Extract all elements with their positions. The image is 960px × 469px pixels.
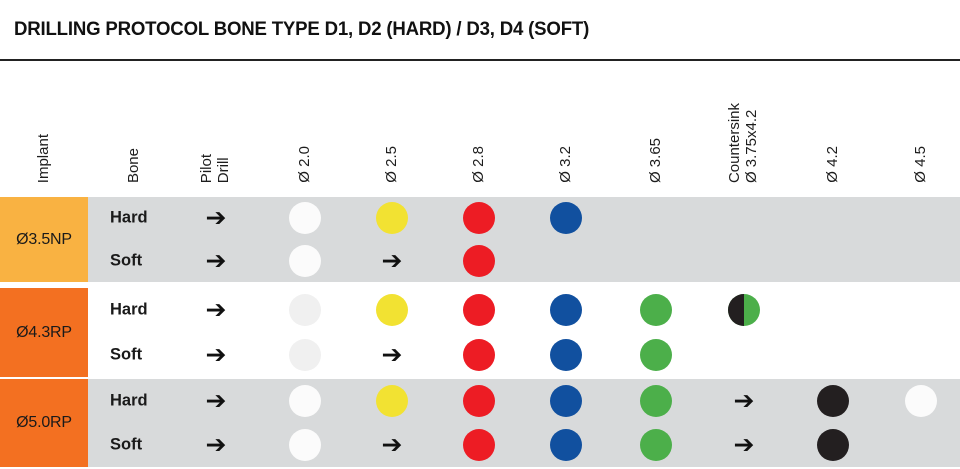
- red-dot: [463, 294, 495, 326]
- arrow-icon: ➔: [382, 432, 403, 458]
- arrow-glyph: ➔: [734, 386, 755, 415]
- column-header-label: Ø 2.5: [384, 146, 401, 183]
- column-header-label: Ø 4.5: [913, 146, 930, 183]
- drill-step-dot: [905, 385, 937, 417]
- drilling-protocol-page: DRILLING PROTOCOL BONE TYPE D1, D2 (HARD…: [0, 0, 960, 469]
- blue-dot: [550, 385, 582, 417]
- drill-step-dot: [550, 429, 582, 461]
- yellow-dot: [376, 385, 408, 417]
- drill-step-dot: [550, 202, 582, 234]
- implant-label: Ø3.5NP: [16, 231, 72, 249]
- column-header-bone: Bone: [94, 63, 174, 183]
- red-dot: [463, 339, 495, 371]
- drill-step-dot: [550, 339, 582, 371]
- white-dot: [905, 385, 937, 417]
- red-dot: [463, 245, 495, 277]
- drill-step-dot: [289, 294, 321, 326]
- column-header-d45: Ø 4.5: [881, 63, 960, 183]
- bone-type-label: Soft: [110, 345, 142, 364]
- column-header-d32: Ø 3.2: [526, 63, 606, 183]
- arrow-icon: ➔: [734, 432, 755, 458]
- arrow-glyph: ➔: [734, 430, 755, 459]
- arrow-glyph: ➔: [206, 295, 227, 324]
- column-header-label: Ø 3.65: [648, 138, 665, 183]
- white-dot: [289, 385, 321, 417]
- column-header-d25: Ø 2.5: [352, 63, 432, 183]
- half-black-half-green-dot: [728, 294, 760, 326]
- green-dot: [640, 385, 672, 417]
- arrow-icon: ➔: [206, 342, 227, 368]
- black-dot: [817, 385, 849, 417]
- arrow-icon: ➔: [206, 432, 227, 458]
- drill-step-dot: [550, 385, 582, 417]
- blue-dot: [550, 294, 582, 326]
- column-header-d20: Ø 2.0: [265, 63, 345, 183]
- drill-step-dot: [289, 245, 321, 277]
- red-dot: [463, 202, 495, 234]
- implant-label-cell: Ø3.5NP: [0, 197, 88, 282]
- blue-dot: [550, 339, 582, 371]
- column-header-d28: Ø 2.8: [439, 63, 519, 183]
- arrow-icon: ➔: [382, 342, 403, 368]
- arrow-icon: ➔: [734, 388, 755, 414]
- table-header-row: ImplantBonePilot DrillØ 2.0Ø 2.5Ø 2.8Ø 3…: [0, 61, 960, 197]
- column-header-label: Ø 3.2: [558, 146, 575, 183]
- column-header-d42: Ø 4.2: [793, 63, 873, 183]
- drill-step-dot: [289, 385, 321, 417]
- green-dot: [640, 339, 672, 371]
- drill-step-dot: [640, 294, 672, 326]
- table-row: Soft➔➔: [88, 333, 960, 378]
- drill-step-dot: [728, 294, 760, 326]
- column-header-implant: Implant: [4, 63, 84, 183]
- red-dot: [463, 385, 495, 417]
- bone-type-label: Soft: [110, 251, 142, 270]
- drill-step-dot: [463, 429, 495, 461]
- white-dot: [289, 202, 321, 234]
- page-title-text: DRILLING PROTOCOL BONE TYPE D1, D2 (HARD…: [14, 18, 589, 41]
- implant-group-row: Ø4.3RPHard➔Soft➔➔: [0, 288, 960, 377]
- arrow-icon: ➔: [206, 388, 227, 414]
- arrow-glyph: ➔: [206, 246, 227, 275]
- black-dot: [817, 429, 849, 461]
- drill-step-dot: [640, 429, 672, 461]
- bone-type-label: Hard: [110, 392, 148, 411]
- drill-step-dot: [817, 429, 849, 461]
- arrow-icon: ➔: [382, 248, 403, 274]
- white-dot: [289, 429, 321, 461]
- column-header-label: Countersink Ø 3.75x4.2: [727, 103, 761, 183]
- column-header-d365: Ø 3.65: [616, 63, 696, 183]
- blue-dot: [550, 429, 582, 461]
- blue-dot: [550, 202, 582, 234]
- table-row: Soft➔➔➔: [88, 423, 960, 467]
- arrow-glyph: ➔: [206, 203, 227, 232]
- drill-step-dot: [463, 202, 495, 234]
- white-dot: [289, 245, 321, 277]
- arrow-glyph: ➔: [382, 246, 403, 275]
- column-header-label: Implant: [36, 134, 53, 183]
- drill-step-dot: [640, 385, 672, 417]
- arrow-glyph: ➔: [206, 340, 227, 369]
- drill-step-dot: [463, 245, 495, 277]
- implant-group-row: Ø3.5NPHard➔Soft➔➔: [0, 197, 960, 282]
- white-on-plain-dot: [289, 339, 321, 371]
- drill-step-dot: [376, 294, 408, 326]
- arrow-icon: ➔: [206, 248, 227, 274]
- green-dot: [640, 429, 672, 461]
- implant-label: Ø5.0RP: [16, 414, 72, 432]
- drill-step-dot: [640, 339, 672, 371]
- implant-label-cell: Ø4.3RP: [0, 288, 88, 377]
- implant-group-row: Ø5.0RPHard➔➔Soft➔➔➔: [0, 379, 960, 467]
- column-header-label: Ø 2.8: [471, 146, 488, 183]
- arrow-glyph: ➔: [382, 430, 403, 459]
- bone-type-label: Hard: [110, 209, 148, 228]
- drill-step-dot: [817, 385, 849, 417]
- yellow-dot: [376, 294, 408, 326]
- implant-label: Ø4.3RP: [16, 324, 72, 342]
- arrow-glyph: ➔: [206, 386, 227, 415]
- red-dot: [463, 429, 495, 461]
- drill-step-dot: [289, 429, 321, 461]
- arrow-icon: ➔: [206, 205, 227, 231]
- drill-step-dot: [289, 202, 321, 234]
- implant-label-cell: Ø5.0RP: [0, 379, 88, 467]
- bone-type-label: Hard: [110, 301, 148, 320]
- drill-step-dot: [376, 385, 408, 417]
- arrow-glyph: ➔: [206, 430, 227, 459]
- drill-step-dot: [463, 385, 495, 417]
- column-header-countersink: Countersink Ø 3.75x4.2: [704, 63, 784, 183]
- arrow-glyph: ➔: [382, 340, 403, 369]
- page-title: DRILLING PROTOCOL BONE TYPE D1, D2 (HARD…: [0, 0, 960, 59]
- table-row: Hard➔➔: [88, 379, 960, 423]
- drill-step-dot: [550, 294, 582, 326]
- green-dot: [640, 294, 672, 326]
- drill-step-dot: [289, 339, 321, 371]
- arrow-icon: ➔: [206, 297, 227, 323]
- table-row: Hard➔: [88, 197, 960, 240]
- column-header-pilot: Pilot Drill: [176, 63, 256, 183]
- column-header-label: Pilot Drill: [199, 154, 233, 183]
- drill-step-dot: [463, 339, 495, 371]
- drill-step-dot: [463, 294, 495, 326]
- yellow-dot: [376, 202, 408, 234]
- table-row: Hard➔: [88, 288, 960, 333]
- column-header-label: Bone: [126, 148, 143, 183]
- bone-type-label: Soft: [110, 436, 142, 455]
- column-header-label: Ø 4.2: [825, 146, 842, 183]
- white-on-plain-dot: [289, 294, 321, 326]
- drill-step-dot: [376, 202, 408, 234]
- table-row: Soft➔➔: [88, 240, 960, 283]
- column-header-label: Ø 2.0: [297, 146, 314, 183]
